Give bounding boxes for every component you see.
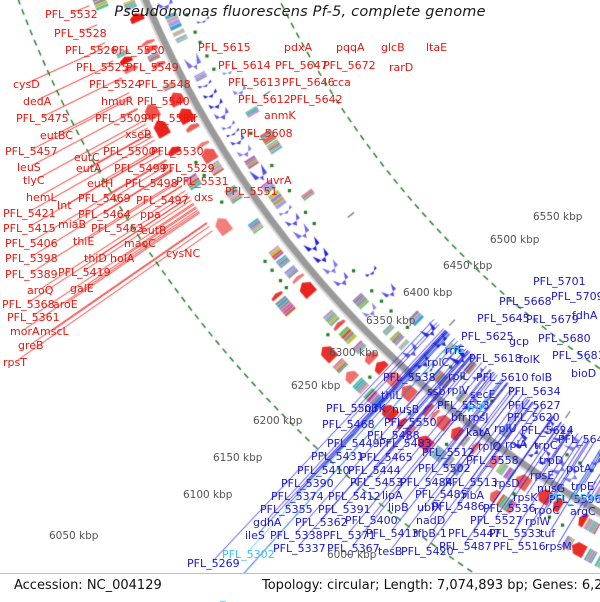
gene-label-forward[interactable]: PFL_5646 bbox=[282, 77, 335, 88]
gene-label-reverse[interactable]: ssb bbox=[427, 386, 445, 397]
gene-label-reverse[interactable]: rplV bbox=[447, 385, 469, 396]
axis-tick-label: 6500 kbp bbox=[490, 234, 539, 246]
gene-label-forward[interactable]: PFL_5551 bbox=[225, 186, 278, 197]
gene-label-reverse[interactable]: bioD bbox=[571, 368, 596, 379]
gene-label-forward[interactable]: eutA bbox=[76, 163, 102, 174]
gene-label-forward[interactable]: PFL_5415 bbox=[3, 223, 56, 234]
gene-label-reverse[interactable]: folK bbox=[519, 354, 540, 365]
gene-label-reverse[interactable]: trpD bbox=[539, 455, 563, 466]
gene-label-reverse[interactable]: PFL_5513 bbox=[445, 477, 498, 488]
gene-label-forward[interactable]: PFL_5469 bbox=[78, 193, 131, 204]
gene-label-forward[interactable]: PFL_5615 bbox=[198, 42, 251, 53]
gene-label-reverse[interactable]: trpC bbox=[534, 440, 558, 451]
gene-label-reverse[interactable]: PFL_5538 bbox=[383, 372, 436, 383]
axis-tick-label: 6100 kbp bbox=[183, 489, 232, 501]
axis-tick-label: 6150 kbp bbox=[213, 452, 262, 464]
status-bar: Accession: NC_004129 Topology: circular;… bbox=[0, 573, 600, 600]
gene-label-reverse[interactable]: nadD bbox=[416, 515, 445, 526]
gene-label-forward[interactable]: PFL_5550 bbox=[112, 45, 165, 56]
gene-label-rna[interactable]: PFL_5596 bbox=[548, 493, 600, 504]
axis-tick-label: 6200 kbp bbox=[253, 415, 302, 427]
gene-label-reverse[interactable]: lipA bbox=[382, 490, 403, 501]
gene-label-reverse[interactable]: PFL_5400 bbox=[345, 515, 398, 526]
gene-label-forward[interactable]: pdxA bbox=[284, 42, 312, 53]
gene-label-reverse[interactable]: PFL_5355 bbox=[260, 504, 313, 515]
gene-label-forward[interactable]: PFL_5509 bbox=[95, 113, 148, 124]
gene-label-forward[interactable]: cca bbox=[332, 77, 351, 88]
gene-label-reverse[interactable]: PFL_5374 bbox=[271, 491, 324, 502]
gene-label-reverse[interactable]: thiL bbox=[381, 390, 401, 401]
gene-label-forward[interactable]: eutB bbox=[141, 225, 167, 236]
gene-label-forward[interactable]: PFL_5613 bbox=[228, 77, 281, 88]
gene-label-forward[interactable]: PFL_5540 bbox=[137, 96, 190, 107]
gene-label-reverse[interactable]: bfr bbox=[451, 412, 466, 423]
gene-label-forward[interactable]: PFL_5361 bbox=[7, 312, 60, 323]
gene-label-reverse[interactable]: rpsD bbox=[494, 478, 520, 489]
gene-label-reverse[interactable]: PFL_5444 bbox=[348, 465, 401, 476]
gene-label-forward[interactable]: PFL_5368 bbox=[2, 299, 55, 310]
gene-label-forward[interactable]: PFL_5532 bbox=[45, 9, 98, 20]
gene-label-reverse[interactable]: ubIX bbox=[417, 502, 442, 513]
gene-label-forward[interactable]: xseB bbox=[125, 129, 152, 140]
gene-label-forward[interactable]: PFL_5672 bbox=[323, 60, 376, 71]
gene-label-forward[interactable]: mscL bbox=[40, 326, 69, 337]
gene-label-reverse[interactable]: PFL_5410 bbox=[297, 465, 350, 476]
gene-label-forward[interactable]: Int bbox=[57, 200, 72, 211]
genome-map-viewer: Pseudomonas fluorescens Pf-5, complete g… bbox=[0, 0, 600, 600]
accession-text: Accession: NC_004129 bbox=[14, 578, 162, 593]
gene-label-forward[interactable]: hemL bbox=[26, 192, 57, 203]
gene-label-forward[interactable]: PFL_5642 bbox=[290, 94, 343, 105]
gene-label-forward[interactable]: PFL_5530 bbox=[151, 146, 204, 157]
gene-label-reverse[interactable]: trpE bbox=[571, 481, 594, 492]
axis-tick-label: 6400 kbp bbox=[403, 287, 452, 299]
gene-label-forward[interactable]: PFL_5499 bbox=[114, 163, 167, 174]
gene-label-reverse[interactable]: argC bbox=[570, 506, 596, 517]
gene-label-forward[interactable]: PFL_5647 bbox=[275, 60, 328, 71]
gene-label-reverse[interactable]: PFL_5709 bbox=[551, 291, 600, 302]
gene-label-forward[interactable]: PFL_5475 bbox=[16, 113, 69, 124]
gene-label-forward[interactable]: PFL_5463 bbox=[91, 223, 144, 234]
gene-label-forward[interactable]: greB bbox=[18, 340, 44, 351]
axis-tick-label: 6050 kbp bbox=[49, 530, 98, 542]
gene-label-reverse[interactable]: PFL_5449 bbox=[327, 438, 380, 449]
gene-label-forward[interactable]: PFL_5529 bbox=[162, 163, 215, 174]
gene-label-reverse[interactable]: nusB bbox=[392, 404, 419, 415]
gene-label-forward[interactable]: lhr bbox=[183, 113, 198, 124]
gene-label-forward[interactable]: thiD bbox=[84, 253, 107, 264]
gene-label-reverse[interactable]: PFL_5503 bbox=[326, 403, 379, 414]
gene-label-forward[interactable]: PFL_5531 bbox=[176, 176, 229, 187]
gene-label-forward[interactable]: PFL_5525 bbox=[76, 62, 129, 73]
gene-label-forward[interactable]: leuS bbox=[17, 162, 41, 173]
gene-label-forward[interactable]: ppa bbox=[140, 209, 161, 220]
gene-label-reverse[interactable]: rplC bbox=[427, 357, 449, 368]
gene-label-forward[interactable]: galE bbox=[70, 283, 94, 294]
gene-label-reverse[interactable]: PFL_5558 bbox=[466, 455, 519, 466]
gene-label-reverse[interactable]: PFL_5412 bbox=[328, 491, 381, 502]
gene-label-forward[interactable]: glcB bbox=[381, 42, 405, 53]
gene-label-reverse[interactable]: PFL_5431 bbox=[311, 451, 364, 462]
gene-label-rna[interactable]: rrlE bbox=[467, 403, 486, 414]
gene-label-forward[interactable]: pqqA bbox=[336, 42, 364, 53]
gene-label-forward[interactable]: dedA bbox=[23, 96, 51, 107]
gene-label-reverse[interactable]: PFL_5681 bbox=[552, 350, 600, 361]
gene-label-reverse[interactable]: PFL_5362 bbox=[295, 517, 348, 528]
gene-label-reverse[interactable]: folB bbox=[531, 372, 552, 383]
topology-text: Topology: circular; Length: 7,074,893 bp… bbox=[262, 578, 600, 593]
gene-label-reverse[interactable]: rplW bbox=[525, 516, 550, 527]
gene-label-reverse[interactable]: PFL_5634 bbox=[508, 386, 561, 397]
gene-label-reverse[interactable]: gdhA bbox=[253, 517, 281, 528]
gene-label-reverse[interactable]: tuf bbox=[540, 528, 555, 539]
gene-label-forward[interactable]: PFL_5389 bbox=[5, 269, 58, 280]
gene-label-reverse[interactable]: PFL_5337 bbox=[273, 543, 326, 554]
gene-label-rna[interactable]: PFL_5302 bbox=[222, 549, 275, 560]
gene-label-forward[interactable]: hmuR bbox=[101, 96, 133, 107]
gene-label-forward[interactable]: PFL_5419 bbox=[58, 267, 111, 278]
gene-label-reverse[interactable]: rplU bbox=[494, 423, 517, 434]
gene-label-forward[interactable]: maoC bbox=[124, 238, 156, 249]
gene-label-forward[interactable]: PFL_5608 bbox=[240, 128, 293, 139]
gene-label-reverse[interactable]: PFL_5453 bbox=[350, 477, 403, 488]
axis-tick-label: 6300 kbp bbox=[329, 347, 378, 359]
gene-label-reverse[interactable]: PFL_5413 bbox=[366, 528, 419, 539]
gene-label-reverse[interactable]: tesB bbox=[378, 546, 402, 557]
gene-label-forward[interactable]: PFL_5548 bbox=[138, 79, 191, 90]
gene-label-forward[interactable]: rpsT bbox=[3, 357, 27, 368]
gene-label-forward[interactable]: PFL_5614 bbox=[218, 60, 271, 71]
gene-label-forward[interactable]: dxs bbox=[194, 192, 213, 203]
axis-tick-label: 6350 kbp bbox=[366, 315, 415, 327]
gene-label-forward[interactable]: miaB bbox=[58, 219, 86, 230]
gene-label-forward[interactable]: PFL_5526 bbox=[65, 45, 118, 56]
gene-label-reverse[interactable]: PFL_5627 bbox=[508, 400, 561, 411]
gene-label-reverse[interactable]: PFL_5550 bbox=[384, 417, 437, 428]
gene-label-forward[interactable]: PFL_5524 bbox=[89, 79, 142, 90]
gene-label-reverse[interactable]: PFL_5643 bbox=[558, 434, 600, 445]
gene-label-reverse[interactable]: PFL_5485 bbox=[415, 489, 468, 500]
gene-label-reverse[interactable]: PFL_5447 bbox=[448, 528, 501, 539]
gene-label-forward[interactable]: cysNC bbox=[166, 248, 200, 259]
gene-label-forward[interactable]: PFL_5498 bbox=[125, 178, 178, 189]
gene-label-reverse[interactable]: PFL_5465 bbox=[360, 452, 413, 463]
gene-label-reverse[interactable]: PFL_5668 bbox=[499, 296, 552, 307]
gene-label-reverse[interactable]: katA bbox=[466, 427, 491, 438]
gene-label-reverse[interactable]: rplA bbox=[505, 439, 527, 450]
gene-label-forward[interactable]: PFL_5528 bbox=[54, 28, 107, 39]
gene-label-reverse[interactable]: rfbB-1 bbox=[413, 528, 447, 539]
gene-label-reverse[interactable]: PFL_5487 bbox=[439, 541, 492, 552]
gene-label-reverse[interactable]: rplQ bbox=[478, 441, 501, 452]
gene-label-forward[interactable]: PFL_5549 bbox=[126, 62, 179, 73]
gene-label-forward[interactable]: aroQ bbox=[27, 285, 53, 296]
gene-label-forward[interactable]: holA bbox=[110, 253, 134, 264]
gene-label-reverse[interactable]: PFL_5645 bbox=[477, 313, 530, 324]
gene-label-reverse[interactable]: PFL_5618 bbox=[469, 353, 522, 364]
gene-label-rna[interactable]: rrfE bbox=[444, 344, 464, 355]
gene-label-reverse[interactable]: PFL_5680 bbox=[538, 333, 591, 344]
gene-label-reverse[interactable]: rplL bbox=[448, 371, 469, 382]
gene-label-reverse[interactable]: rpsM bbox=[545, 541, 572, 552]
axis-tick-label: 6550 kbp bbox=[533, 211, 582, 223]
gene-label-forward[interactable]: PFL_5421 bbox=[3, 208, 56, 219]
gene-label-forward[interactable]: eutH bbox=[87, 178, 113, 189]
gene-label-reverse[interactable]: PFL_5625 bbox=[461, 331, 514, 342]
gene-label-reverse[interactable]: PFL_5390 bbox=[281, 478, 334, 489]
gene-label-forward[interactable]: eutBC bbox=[40, 130, 73, 141]
gene-label-forward[interactable]: rarD bbox=[389, 62, 413, 73]
gene-label-reverse[interactable]: PFL_5701 bbox=[533, 276, 586, 287]
gene-label-reverse[interactable]: PFL_5338 bbox=[270, 530, 323, 541]
gene-label-reverse[interactable]: rpsE bbox=[530, 470, 554, 481]
gene-label-reverse[interactable]: PFL_5610 bbox=[476, 372, 529, 383]
gene-label-reverse[interactable]: gcp bbox=[509, 336, 529, 347]
gene-label-reverse[interactable]: PFL_5527 bbox=[470, 515, 523, 526]
gene-label-reverse[interactable]: PFL_5679 bbox=[526, 314, 579, 325]
gene-label-forward[interactable]: anmK bbox=[264, 110, 296, 121]
gene-label-forward[interactable]: PFL_5406 bbox=[5, 238, 58, 249]
axis-tick-label: 6000 kbp bbox=[327, 549, 376, 561]
gene-label-reverse[interactable]: lipB bbox=[388, 502, 409, 513]
gene-label-reverse[interactable]: PFL_5516 bbox=[493, 541, 546, 552]
gene-label-reverse[interactable]: potA bbox=[566, 463, 592, 474]
gene-label-reverse[interactable]: PFL_5502 bbox=[418, 463, 471, 474]
gene-label-forward[interactable]: aroE bbox=[53, 299, 78, 310]
gene-label-reverse[interactable]: fdhA bbox=[572, 310, 597, 321]
gene-label-forward[interactable]: PFL_5500 bbox=[103, 146, 156, 157]
axis-tick-label: 6450 kbp bbox=[443, 260, 492, 272]
gene-label-forward[interactable]: ltaE bbox=[426, 42, 447, 53]
gene-label-forward[interactable]: PFL_5457 bbox=[5, 146, 58, 157]
gene-label-forward[interactable]: thiE bbox=[73, 236, 94, 247]
gene-label-reverse[interactable]: ileS bbox=[245, 530, 265, 541]
gene-label-forward[interactable]: morA bbox=[10, 326, 40, 337]
gene-label-forward[interactable]: PFL_5497 bbox=[136, 195, 189, 206]
gene-label-forward[interactable]: PFL_5612 bbox=[238, 94, 291, 105]
gene-label-forward[interactable]: tlyC bbox=[23, 175, 45, 186]
gene-label-forward[interactable]: cysD bbox=[13, 79, 40, 90]
gene-label-forward[interactable]: PFL_5398 bbox=[5, 253, 58, 264]
axis-tick-label: 6250 kbp bbox=[291, 380, 340, 392]
gene-label-reverse[interactable]: PFL_5536 bbox=[483, 503, 536, 514]
